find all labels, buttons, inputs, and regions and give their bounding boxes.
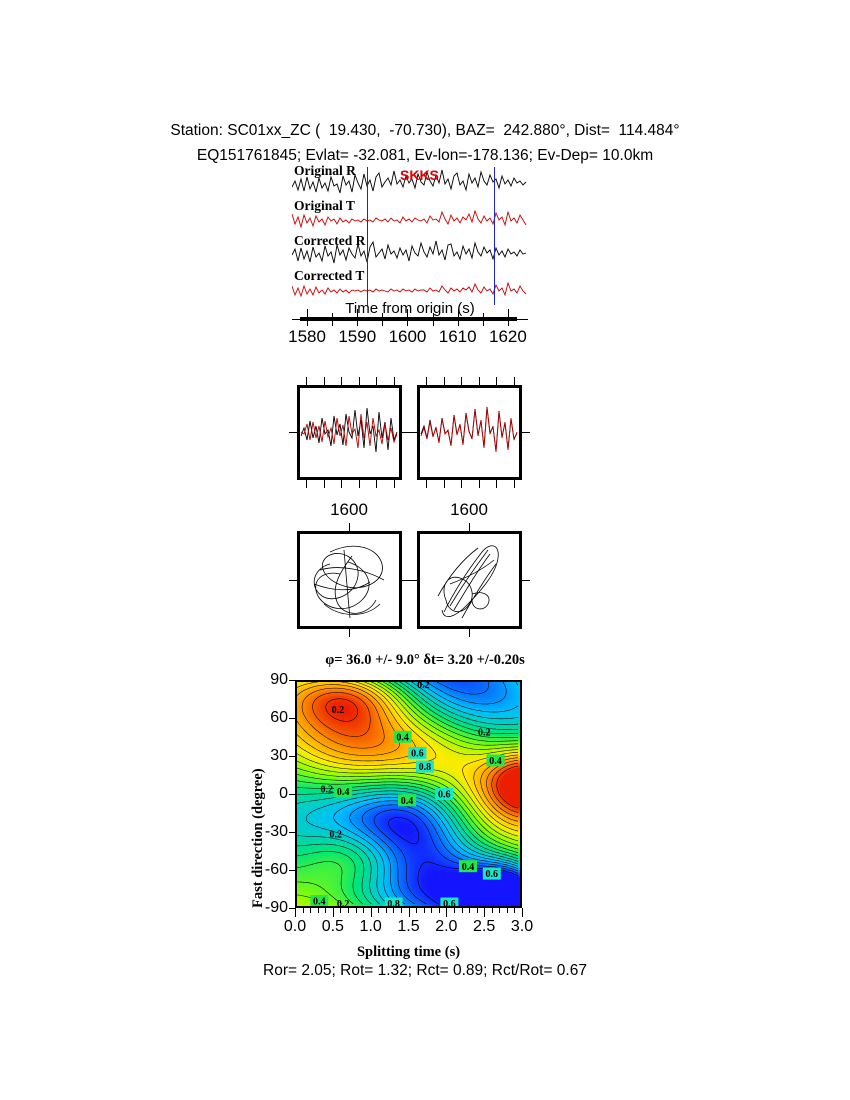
quality-metrics-footer: Ror= 2.05; Rot= 1.32; Rct= 0.89; Rct/Rot… [0,962,850,980]
contour-xtick [378,908,379,913]
zoom-waveform-original [300,388,399,477]
zoom-panel-tick [426,480,427,488]
trace-label-corrected-t: Corrected T [294,268,364,284]
contour-xtick [454,908,455,913]
contour-xtick [507,908,508,913]
zoom-panel-tick [341,480,342,488]
zoom-panel-tick [306,377,307,385]
splitting-grid-search-plot: 0.20.40.60.80.20.40.20.40.40.60.20.40.60… [295,680,522,908]
contour-xtick [484,908,485,917]
particle-motion-original [297,531,402,629]
zoom-panel-original [297,385,402,480]
zoom-right-xlabel: 1600 [450,500,488,520]
zoom-panel-tick [376,377,377,385]
zoom-panel-tick [394,377,395,385]
time-tick [382,313,383,326]
contour-xtick [325,908,326,913]
contour-xtick [393,908,394,913]
zoom-panel-tick [461,480,462,488]
zoom-panel-tick [496,480,497,488]
contour-xtick [363,908,364,913]
trace-label-original-r: Original R [294,163,356,179]
contour-ytick [289,870,295,871]
contour-xtick [446,908,447,917]
zoom-panel-tick [359,480,360,488]
contour-label: 0.6 [408,747,426,760]
contour-xtick [401,908,402,913]
contour-xtick-label: 1.5 [397,918,419,936]
contour-ytick-label: -30 [242,823,288,841]
time-axis: Time from origin (s) 1580159016001610162… [292,305,528,350]
zoom-panel-tick [359,377,360,385]
zoom-panel-tick [479,377,480,385]
zoom-panel-tick [444,377,445,385]
time-tick [508,309,509,326]
contour-xtick [514,908,515,913]
contour-xtick [356,908,357,913]
time-tick [332,313,333,326]
trace-label-original-t: Original T [294,198,355,214]
contour-ytick [289,908,295,909]
contour-xtick [295,908,296,917]
splitting-parameters-title: φ= 36.0 +/- 9.0° δt= 3.20 +/-0.20s [0,652,850,669]
phase-label-skks: SKKS [400,167,439,183]
contour-ytick-labels: 9060300-30-60-90 [238,680,288,908]
contour-ytick [289,680,295,681]
contour-xtick-label: 1.0 [360,918,382,936]
waveform-panel: Original R Original T Corrected R Correc… [292,165,528,305]
contour-label: 0.4 [398,794,416,807]
zoom-panel-tick [341,377,342,385]
zoom-panel-tick [514,480,515,488]
contour-xtick-label: 2.0 [435,918,457,936]
zoom-panel-center-tick [522,432,530,433]
contour-xtick [469,908,470,913]
contour-xtick [499,908,500,913]
contour-xtick [318,908,319,913]
particle-panel-tick [349,629,350,637]
contour-ytick [289,794,295,795]
contour-ytick [289,832,295,833]
time-tick [483,313,484,326]
zoom-panel-tick [514,377,515,385]
particle-panel-tick [469,629,470,637]
zoom-left-xlabel: 1600 [330,500,368,520]
particle-panel-tick [522,580,530,581]
time-tick-label: 1580 [288,327,326,347]
contour-xtick-labels: 0.00.51.01.52.02.53.0 [295,918,522,942]
contour-ytick-label: -90 [242,899,288,917]
particle-panel-tick [469,523,470,531]
contour-xtick [477,908,478,913]
contour-xtick-label: 0.5 [322,918,344,936]
contour-xtick-label: 2.5 [473,918,495,936]
zoom-panel-tick [306,480,307,488]
window-end-marker [494,167,495,305]
contour-ytick-label: 90 [242,671,288,689]
contour-xtick [424,908,425,913]
contour-xtick [303,908,304,913]
contour-xtick-label: 3.0 [511,918,533,936]
contour-ytick-label: 60 [242,709,288,727]
contour-ytick [289,718,295,719]
zoom-panel-tick [479,480,480,488]
contour-canvas: 0.20.40.60.80.20.40.20.40.40.60.20.40.60… [297,682,520,906]
time-tick [458,309,459,326]
time-tick-label: 1590 [338,327,376,347]
hodogram-corrected [420,534,519,626]
contour-ytick [289,756,295,757]
window-start-marker [367,167,368,305]
contour-label: 0.4 [394,731,412,744]
contour-xtick [333,908,334,917]
contour-xtick [409,908,410,917]
particle-panel-tick [409,580,417,581]
time-tick-label: 1600 [389,327,427,347]
zoom-panel-tick [376,480,377,488]
time-tick [407,309,408,326]
zoom-panel-center-tick [409,432,417,433]
time-tick-label: 1620 [489,327,527,347]
contour-xlabel: Splitting time (s) [295,944,522,961]
zoom-panel-tick [394,480,395,488]
particle-panel-tick [349,523,350,531]
contour-xtick [310,908,311,913]
zoom-panel-corrected [417,385,522,480]
contour-xtick [386,908,387,913]
zoom-panel-tick [461,377,462,385]
zoom-panel-tick [444,480,445,488]
zoom-panel-center-tick [289,432,297,433]
contour-label: 0.4 [459,860,477,873]
particle-motion-corrected [417,531,522,629]
contour-label: 0.6 [435,788,453,801]
contour-xtick [348,908,349,913]
contour-ytick-label: 0 [242,785,288,803]
figure-header: Station: SC01xx_ZC ( 19.430, -70.730), B… [0,118,850,168]
contour-xtick [522,908,523,917]
contour-label: 0.8 [416,761,434,774]
contour-xtick [371,908,372,917]
zoom-panel-tick [324,480,325,488]
particle-panel-tick [289,580,297,581]
contour-label: 0.6 [440,898,458,907]
zoom-panel-tick [324,377,325,385]
contour-ytick-label: -60 [242,861,288,879]
time-tick-label: 1610 [439,327,477,347]
waveform-trace-row: Corrected R [292,235,528,270]
zoom-panel-tick [496,377,497,385]
zoom-waveform-corrected [420,388,519,477]
contour-xtick [439,908,440,913]
time-tick [357,309,358,326]
contour-xtick [416,908,417,913]
header-station-line: Station: SC01xx_ZC ( 19.430, -70.730), B… [0,118,850,143]
hodogram-original [300,534,399,626]
contour-label: 0.4 [310,895,328,906]
contour-xtick [492,908,493,913]
time-tick [307,309,308,326]
contour-label: 0.4 [334,786,352,799]
contour-ytick-label: 30 [242,747,288,765]
zoom-panel-tick [426,377,427,385]
contour-xtick [462,908,463,913]
contour-xtick-label: 0.0 [284,918,306,936]
contour-label: 0.4 [487,754,505,767]
contour-label: 0.6 [483,868,501,881]
trace-label-corrected-r: Corrected R [294,233,365,249]
time-axis-title: Time from origin (s) [292,300,528,317]
contour-xtick [340,908,341,913]
contour-xtick [431,908,432,913]
time-tick [433,313,434,326]
waveform-trace-row: Original T [292,200,528,235]
contour-label: 0.8 [385,898,403,907]
